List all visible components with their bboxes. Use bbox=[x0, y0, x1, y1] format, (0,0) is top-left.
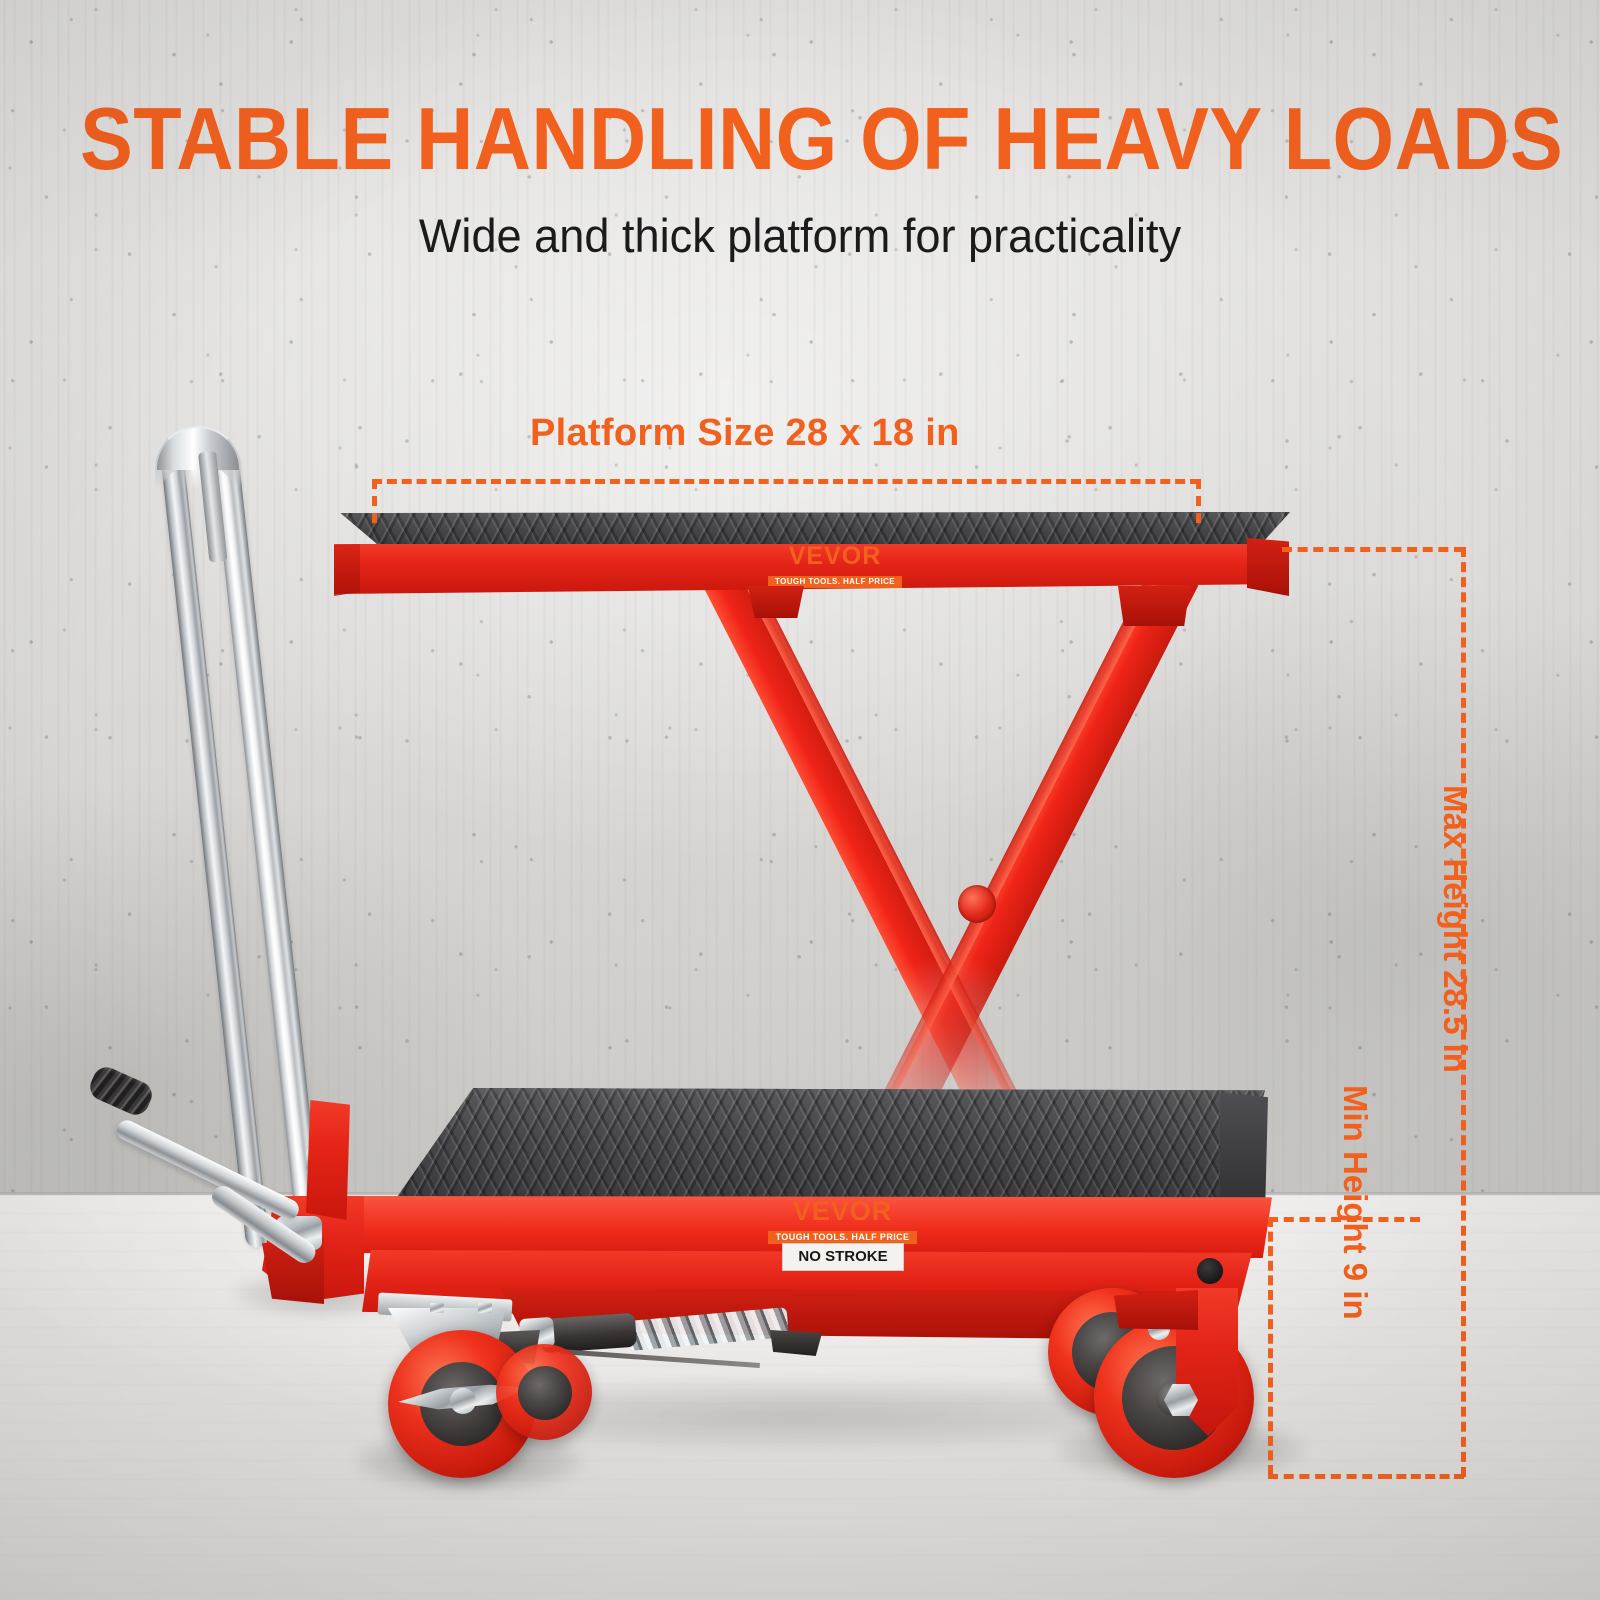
upper-platform-left-cap bbox=[334, 544, 360, 596]
front-caster-hub-far bbox=[518, 1366, 572, 1420]
foot-pedal-rubber-grip bbox=[86, 1063, 156, 1119]
rear-axle-shroud bbox=[1114, 1290, 1198, 1330]
handle-red-post bbox=[306, 1100, 350, 1220]
scissor-pivot-bolt bbox=[958, 885, 996, 923]
min-height-dash-bottom bbox=[1268, 1474, 1388, 1479]
max-height-dash-bottom bbox=[1382, 1474, 1464, 1479]
chassis-bolt-2 bbox=[478, 1303, 492, 1313]
vevor-tagline-wrap-lower: TOUGH TOOLS. HALF PRICE bbox=[760, 1228, 925, 1244]
min-height-dash-vertical bbox=[1268, 1217, 1273, 1475]
min-height-label: Min Height 9 in bbox=[1336, 1085, 1374, 1320]
vevor-wordmark-lower: VEVOR bbox=[760, 1198, 925, 1225]
scissor-lift-table-cart: VEVOR TOUGH TOOLS. HALF PRICE VEVOR TOUG… bbox=[0, 0, 1600, 1600]
chassis-bolt-hole bbox=[1197, 1258, 1223, 1284]
max-height-label: Max Height 28.5 in bbox=[1436, 785, 1474, 1073]
foot-pedal-bar bbox=[114, 1117, 303, 1223]
lower-platform-mat bbox=[360, 1088, 1265, 1206]
handle-tube-back bbox=[160, 451, 269, 1249]
front-caster-axle-bolt bbox=[450, 1388, 476, 1414]
no-stroke-label: NO STROKE bbox=[782, 1243, 904, 1271]
upper-arm-mount-left bbox=[748, 586, 804, 618]
max-height-dash-top bbox=[1282, 547, 1464, 552]
handle-bend-cap bbox=[157, 428, 239, 470]
spring-anchor-bracket bbox=[770, 1330, 822, 1356]
vevor-tagline-wrap: TOUGH TOOLS. HALF PRICE bbox=[760, 572, 910, 588]
platform-size-dash-horizontal bbox=[372, 479, 1200, 484]
vevor-wordmark: VEVOR bbox=[760, 544, 910, 569]
lower-platform-mat-edge bbox=[1220, 1090, 1268, 1210]
platform-size-label: Platform Size 28 x 18 in bbox=[530, 412, 960, 455]
upper-arm-mount-right bbox=[1118, 586, 1190, 626]
handle-tube-front bbox=[212, 451, 324, 1249]
chassis-bolt-1 bbox=[430, 1303, 444, 1313]
linkage-rod bbox=[560, 1349, 760, 1368]
vevor-logo-upper: VEVOR TOUGH TOOLS. HALF PRICE bbox=[760, 544, 910, 588]
platform-size-tick-left bbox=[372, 479, 377, 523]
product-feature-image: STABLE HANDLING OF HEAVY LOADS Wide and … bbox=[0, 0, 1600, 1600]
platform-size-tick-right bbox=[1196, 479, 1201, 523]
vevor-logo-lower: VEVOR TOUGH TOOLS. HALF PRICE bbox=[760, 1198, 925, 1244]
